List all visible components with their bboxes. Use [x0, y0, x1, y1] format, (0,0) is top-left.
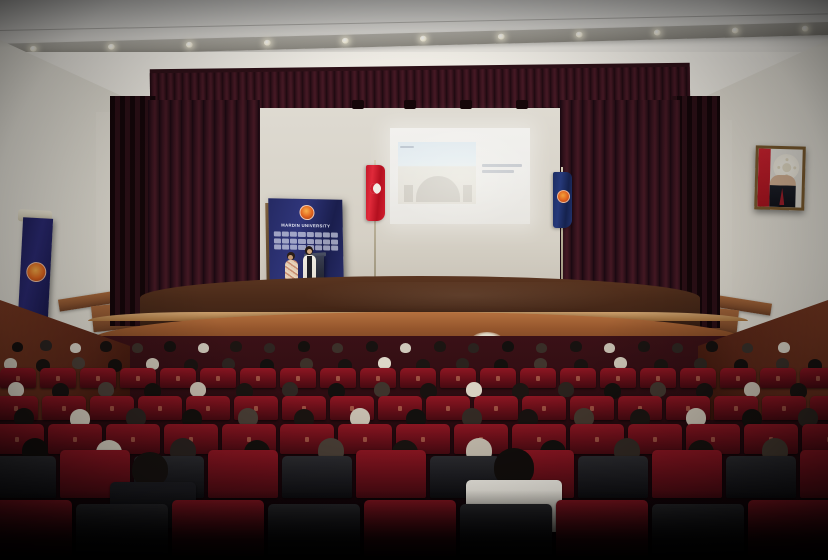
seat [0, 500, 72, 556]
audience-head [502, 341, 514, 352]
seat [760, 368, 796, 388]
seat-crest-icon [131, 437, 135, 442]
seat-crest-icon [496, 376, 500, 381]
audience-head [434, 341, 446, 352]
audience-head [742, 343, 753, 353]
seat-crest-icon [416, 376, 420, 381]
backdrop-icon [323, 239, 330, 244]
seat [800, 450, 828, 498]
slide-caption-line [482, 170, 514, 173]
audience-head [40, 340, 52, 351]
audience-head [132, 343, 143, 353]
seat-crest-icon [595, 437, 599, 442]
seat-crest-icon [15, 437, 19, 442]
audience-head [650, 382, 666, 397]
seat-crest-icon [158, 406, 162, 411]
seat-crest-icon [494, 406, 498, 411]
seat-crest-icon [136, 376, 140, 381]
audience-head [604, 343, 615, 353]
seat [356, 450, 426, 498]
audience-head [400, 343, 411, 353]
seat-crest-icon [73, 437, 77, 442]
backdrop-icon [314, 232, 321, 237]
seat-crest-icon [653, 437, 657, 442]
backdrop-icon [331, 239, 338, 244]
ceiling-spot-icon [264, 40, 271, 46]
university-flag [553, 172, 572, 228]
backdrop-icon [323, 232, 330, 237]
seat-crest-icon [782, 406, 786, 411]
projection-screen [390, 128, 530, 224]
audience-head [744, 382, 760, 397]
seat [208, 450, 278, 498]
ceiling-spot-icon [420, 36, 427, 42]
seat [460, 504, 552, 560]
ceiling-spot-icon [802, 26, 809, 32]
seat-crest-icon [336, 376, 340, 381]
backdrop-icon [315, 239, 322, 244]
backdrop-icon [282, 232, 289, 237]
audience-head [190, 382, 206, 397]
seat [76, 504, 168, 560]
seat [578, 456, 648, 498]
audience-head [332, 343, 343, 353]
seat-crest-icon [537, 437, 541, 442]
backdrop-icon [323, 245, 330, 250]
backdrop-icon [298, 232, 305, 237]
audience-head [132, 452, 168, 486]
backdrop-icon [331, 233, 338, 238]
seat-crest-icon [736, 376, 740, 381]
audience-head [198, 343, 209, 353]
seat-crest-icon [376, 376, 380, 381]
seat-crest-icon [421, 437, 425, 442]
seat-crest-icon [776, 376, 780, 381]
backdrop-icon [274, 231, 281, 236]
seat-crest-icon [256, 376, 260, 381]
crescent-icon [370, 183, 381, 194]
audience-head [298, 341, 310, 352]
audience-head [374, 382, 390, 397]
slide-image [398, 142, 476, 204]
seat-crest-icon [305, 437, 309, 442]
audience-head [8, 382, 24, 397]
seat-crest-icon [56, 376, 60, 381]
seat-crest-icon [734, 406, 738, 411]
backdrop-icon [282, 244, 289, 249]
seat-crest-icon [576, 376, 580, 381]
seat-crest-icon [96, 376, 100, 381]
backdrop-icon [298, 238, 305, 243]
stage-floor-sheen [300, 282, 630, 316]
slide-caption-line [400, 146, 414, 148]
seat [282, 456, 352, 498]
audience-head [638, 341, 650, 352]
audience-head [466, 382, 482, 397]
seat [480, 368, 516, 388]
auditorium-photo: ★ MARD [0, 0, 828, 560]
backdrop-title: MARDIN UNIVERSITY [269, 222, 343, 229]
seat-crest-icon [216, 376, 220, 381]
audience-head [706, 341, 718, 352]
slide-building-arch [416, 176, 460, 202]
seat-crest-icon [446, 406, 450, 411]
seat-crest-icon [176, 376, 180, 381]
audience-head [70, 343, 81, 353]
ceiling-spot-icon [342, 38, 349, 44]
portrait-figure [769, 175, 796, 208]
slide-caption-line [482, 164, 522, 167]
seat-crest-icon [62, 406, 66, 411]
university-emblem-icon [557, 190, 570, 203]
audience-head [12, 342, 23, 352]
stage-light-icon [516, 100, 528, 109]
university-emblem-icon [26, 262, 47, 283]
seat-crest-icon [616, 376, 620, 381]
speaker-scarf [307, 256, 312, 278]
seat-crest-icon [398, 406, 402, 411]
stage-light-icon [404, 100, 416, 109]
ceiling-spot-icon [654, 29, 661, 35]
backdrop-icon [331, 246, 338, 251]
ceiling-spot-icon [732, 27, 739, 33]
seat-crest-icon [16, 376, 20, 381]
backdrop-icon [290, 232, 297, 237]
seat-crest-icon [542, 406, 546, 411]
seat-crest-icon [206, 406, 210, 411]
seat [0, 456, 56, 498]
backdrop-icon [274, 244, 281, 249]
seat-crest-icon [110, 406, 114, 411]
speaker-face [307, 249, 312, 254]
backdrop-icon [306, 239, 313, 244]
seat-crest-icon [296, 376, 300, 381]
seat-crest-icon [816, 376, 820, 381]
seat [172, 500, 264, 556]
seat [726, 456, 796, 498]
turkish-flag [366, 165, 385, 221]
audience-head [468, 343, 479, 353]
audience-head [672, 343, 683, 353]
seat [268, 504, 360, 560]
audience-head [570, 341, 582, 352]
audience-head [264, 343, 275, 353]
ceiling-spot-icon [186, 42, 193, 48]
seat [364, 500, 456, 556]
ceiling-spot-icon [576, 31, 583, 37]
seat-crest-icon [696, 376, 700, 381]
seat [652, 450, 722, 498]
university-seal-icon [299, 205, 314, 220]
backdrop-icon [274, 238, 281, 243]
seat [200, 368, 236, 388]
audience-head [164, 341, 176, 352]
stage-light-icon [460, 100, 472, 109]
seat [556, 500, 648, 556]
seat [748, 500, 828, 556]
seat-crest-icon [711, 437, 715, 442]
backdrop-icon [282, 238, 289, 243]
seat [652, 504, 744, 560]
backdrop-icon [290, 245, 297, 250]
stage-light-icon [352, 100, 364, 109]
seat-crest-icon [656, 376, 660, 381]
audience-head [778, 342, 790, 353]
president-portrait [754, 145, 806, 210]
audience-head [282, 382, 298, 397]
audience-head [100, 341, 112, 352]
seat-crest-icon [363, 437, 367, 442]
ceiling-spot-icon [498, 34, 505, 40]
seat-crest-icon [536, 376, 540, 381]
audience-head [558, 382, 574, 397]
audience-head [98, 382, 114, 397]
ceiling-spot-icon [108, 44, 115, 50]
audience-head [536, 343, 547, 353]
backdrop-icon [306, 232, 313, 237]
audience-head [366, 341, 378, 352]
seat-crest-icon [456, 376, 460, 381]
backdrop-icon [290, 238, 297, 243]
audience-head [230, 341, 242, 352]
